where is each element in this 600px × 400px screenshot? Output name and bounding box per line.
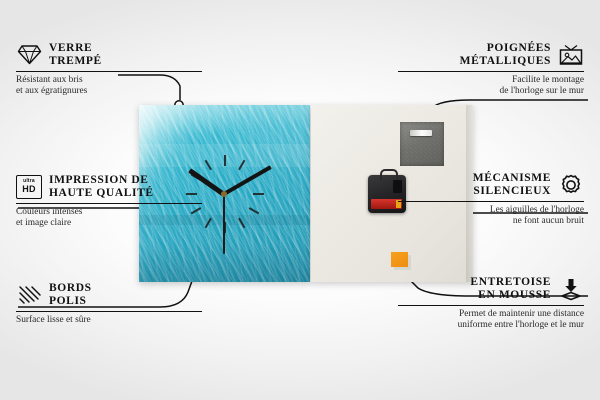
feature-desc-line1: Couleurs intenses <box>16 207 206 218</box>
infographic-canvas: VERRE TREMPÉ Résistant aux bris et aux é… <box>0 0 600 400</box>
arrow-onto-layers-icon <box>558 277 584 301</box>
ultra-hd-badge-icon: ultra HD <box>16 175 42 199</box>
feature-divider <box>398 71 584 72</box>
foam-spacer <box>391 252 408 267</box>
feature-desc-line2: ne font aucun bruit <box>394 216 584 227</box>
feature-title: ENTRETOISE EN MOUSSE <box>470 276 551 301</box>
feature-title: VERRE TREMPÉ <box>49 42 102 67</box>
polished-edge-lines-icon <box>16 283 42 307</box>
feature-header: BORDS POLIS <box>16 282 206 307</box>
feature-desc-line1: Facilite le montage <box>394 75 584 86</box>
feature-desc-line1: Les aiguilles de l'horloge <box>394 205 584 216</box>
feature-desc-line2: de l'horloge sur le mur <box>394 86 584 97</box>
badge-text-hd: HD <box>22 185 35 194</box>
feature-impression-haute-qualite: ultra HD IMPRESSION DE HAUTE QUALITÉ Cou… <box>16 174 206 229</box>
diamond-icon <box>16 43 42 67</box>
feature-bords-polis: BORDS POLIS Surface lisse et sûre <box>16 282 206 326</box>
feature-header: MÉCANISME SILENCIEUX <box>394 172 584 197</box>
hanger-slot <box>410 130 432 136</box>
feature-mecanisme-silencieux: MÉCANISME SILENCIEUX Les aiguilles de l'… <box>394 172 584 227</box>
feature-desc-line2: et image claire <box>16 218 206 229</box>
feature-desc-line2: et aux égratignures <box>16 86 206 97</box>
feature-divider <box>16 203 202 204</box>
feature-desc-line1: Permet de maintenir une distance <box>394 309 584 320</box>
feature-title: MÉCANISME SILENCIEUX <box>473 172 551 197</box>
feature-title: BORDS POLIS <box>49 282 92 307</box>
feature-entretoise-en-mousse: ENTRETOISE EN MOUSSE Permet de maintenir… <box>394 276 584 331</box>
feature-divider <box>16 311 202 312</box>
metal-hanger-plate <box>400 122 444 166</box>
gear-icon <box>558 173 584 197</box>
feature-desc-line1: Surface lisse et sûre <box>16 315 206 326</box>
feature-divider <box>398 305 584 306</box>
feature-header: VERRE TREMPÉ <box>16 42 206 67</box>
hands-center-cap <box>221 191 227 197</box>
feature-title: IMPRESSION DE HAUTE QUALITÉ <box>49 174 154 199</box>
picture-hanger-frame-icon <box>558 43 584 67</box>
feature-header: ultra HD IMPRESSION DE HAUTE QUALITÉ <box>16 174 206 199</box>
feature-divider <box>16 71 202 72</box>
feature-title: POIGNÉES MÉTALLIQUES <box>460 42 551 67</box>
feature-verre-trempe: VERRE TREMPÉ Résistant aux bris et aux é… <box>16 42 206 97</box>
feature-header: POIGNÉES MÉTALLIQUES <box>394 42 584 67</box>
feature-desc-line2: uniforme entre l'horloge et le mur <box>394 320 584 331</box>
feature-desc-line1: Résistant aux bris <box>16 75 206 86</box>
feature-divider <box>398 201 584 202</box>
second-hand <box>223 194 225 254</box>
feature-poignees-metalliques: POIGNÉES MÉTALLIQUES Facilite le montage… <box>394 42 584 97</box>
feature-header: ENTRETOISE EN MOUSSE <box>394 276 584 301</box>
